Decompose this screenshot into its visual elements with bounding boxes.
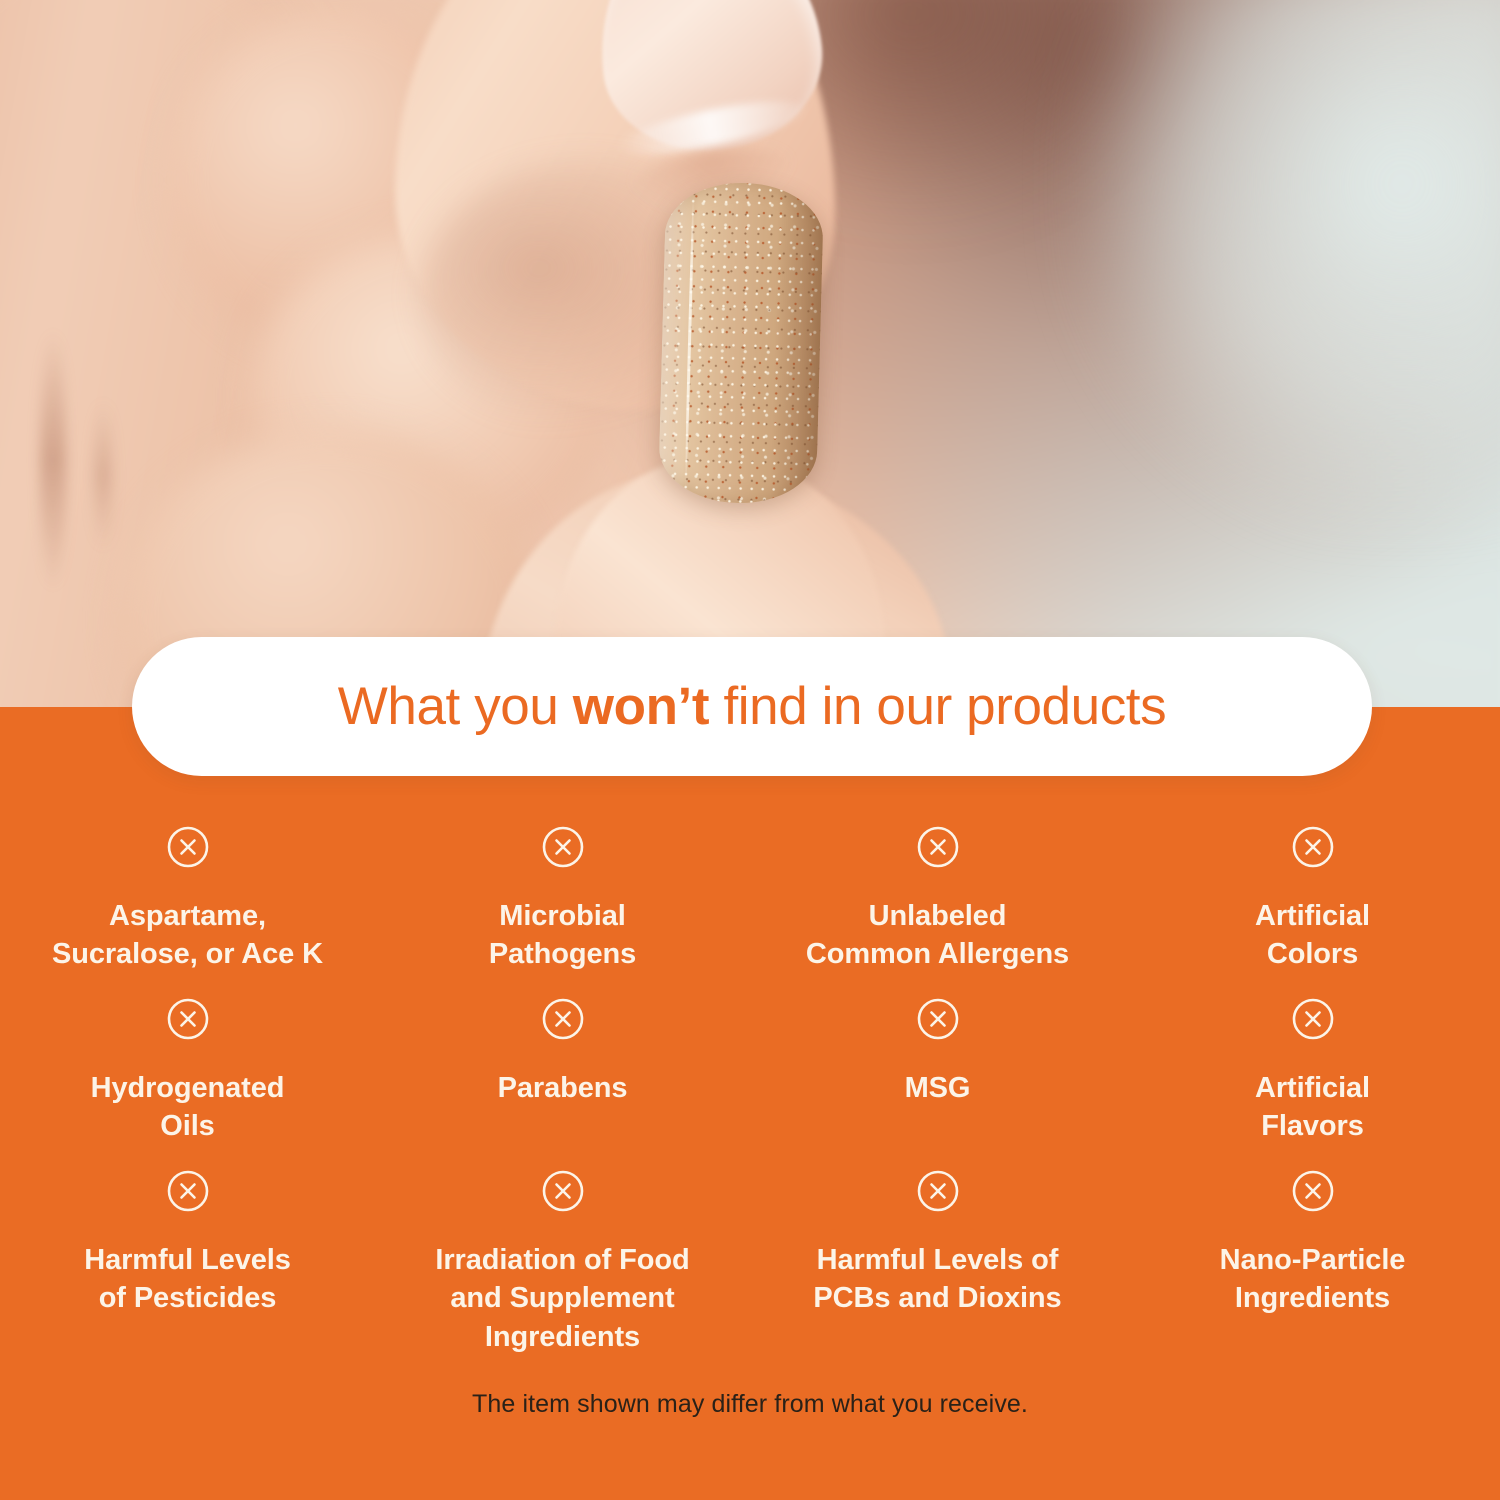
exclusion-label: Microbial Pathogens — [489, 897, 636, 974]
title-part-before: What you — [338, 677, 573, 736]
circle-x-icon — [916, 1169, 960, 1213]
circle-x-icon — [166, 997, 210, 1041]
page-title: What you won’t find in our products — [338, 676, 1166, 737]
exclusion-label: Harmful Levels of PCBs and Dioxins — [813, 1241, 1061, 1318]
exclusion-label: Harmful Levels of Pesticides — [84, 1241, 291, 1318]
circle-x-icon — [166, 1169, 210, 1213]
title-part-after: find in our products — [709, 677, 1166, 736]
title-card: What you won’t find in our products — [132, 637, 1372, 776]
exclusion-label: Hydrogenated Oils — [91, 1069, 285, 1146]
exclusion-label: Irradiation of Food and Supplement Ingre… — [435, 1241, 689, 1356]
exclusion-label: Artificial Colors — [1255, 897, 1370, 974]
supplement-tablet — [658, 181, 824, 505]
exclusion-item: Microbial Pathogens — [375, 825, 750, 997]
circle-x-icon — [1291, 997, 1335, 1041]
circle-x-icon — [541, 825, 585, 869]
product-infographic: Aspartame, Sucralose, or Ace K Microbial… — [0, 0, 1500, 1500]
exclusion-label: Artificial Flavors — [1255, 1069, 1370, 1146]
claims-panel: Aspartame, Sucralose, or Ace K Microbial… — [0, 707, 1500, 1500]
circle-x-icon — [541, 997, 585, 1041]
exclusion-item: Hydrogenated Oils — [0, 997, 375, 1169]
hand-crease-2 — [95, 400, 111, 550]
circle-x-icon — [166, 825, 210, 869]
exclusion-label: Aspartame, Sucralose, or Ace K — [52, 897, 323, 974]
hand-crease-1 — [40, 330, 66, 590]
exclusion-label: Parabens — [498, 1069, 628, 1107]
circle-x-icon — [916, 997, 960, 1041]
circle-x-icon — [1291, 1169, 1335, 1213]
tablet-right-shading — [770, 184, 824, 505]
circle-x-icon — [916, 825, 960, 869]
exclusion-item: Nano-Particle Ingredients — [1125, 1169, 1500, 1359]
exclusion-label: MSG — [905, 1069, 971, 1107]
title-part-emphasis: won’t — [573, 677, 709, 736]
exclusion-item: Harmful Levels of Pesticides — [0, 1169, 375, 1359]
circle-x-icon — [1291, 825, 1335, 869]
exclusion-item: Unlabeled Common Allergens — [750, 825, 1125, 997]
exclusion-label: Nano-Particle Ingredients — [1220, 1241, 1406, 1318]
exclusion-item: MSG — [750, 997, 1125, 1169]
exclusion-item: Harmful Levels of PCBs and Dioxins — [750, 1169, 1125, 1359]
exclusion-label: Unlabeled Common Allergens — [806, 897, 1069, 974]
photo-cool-highlight — [1080, 0, 1500, 520]
exclusion-item: Irradiation of Food and Supplement Ingre… — [375, 1169, 750, 1359]
exclusions-grid: Aspartame, Sucralose, or Ace K Microbial… — [0, 825, 1500, 1359]
hero-photo — [0, 0, 1500, 710]
disclaimer-text: The item shown may differ from what you … — [0, 1390, 1500, 1419]
exclusion-item: Aspartame, Sucralose, or Ace K — [0, 825, 375, 997]
circle-x-icon — [541, 1169, 585, 1213]
exclusion-item: Artificial Flavors — [1125, 997, 1500, 1169]
exclusion-item: Artificial Colors — [1125, 825, 1500, 997]
exclusion-item: Parabens — [375, 997, 750, 1169]
